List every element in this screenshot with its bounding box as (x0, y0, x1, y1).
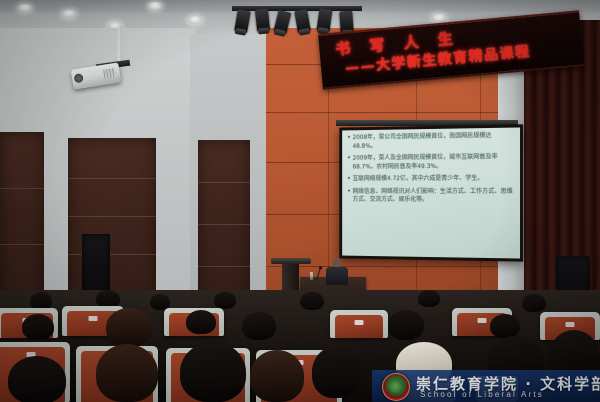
slide-bullet: • 互联网络规模4.72亿，其中六成是青少年、学生。 (348, 175, 515, 184)
seat-cushion (335, 315, 383, 338)
slide-bullet: • 网络信息、网络视讯对人们影响：生活方式、工作方式、思维方式、交流方式、娱乐化… (348, 187, 515, 204)
audience-head (418, 290, 440, 307)
auditorium-seat[interactable] (330, 310, 388, 338)
seat-number-plate (89, 316, 98, 321)
slide-bullet-text: 2009年，菜人及全国网民规模首位，城市互联网普及率68.7%，农村网民普及率4… (353, 153, 515, 171)
downlight-icon (18, 4, 32, 12)
presenter-body (326, 267, 348, 285)
downlight-icon (148, 2, 162, 10)
audience-head (242, 312, 276, 340)
watermark-english-text: School of Liberal Arts (420, 390, 544, 399)
school-emblem-icon (382, 373, 410, 401)
audience-head (186, 310, 216, 334)
audience-head-foreground (180, 342, 246, 402)
stage-light-icon (234, 9, 251, 33)
audience-head-foreground (8, 356, 66, 402)
wood-panel-right (198, 140, 250, 312)
presenter (326, 258, 348, 284)
audience-head-foreground (312, 346, 360, 398)
seat-number-plate (355, 320, 364, 325)
lighting-truss (232, 0, 362, 34)
audience-head (214, 292, 236, 309)
audience-head (522, 294, 546, 312)
audience-head (490, 314, 520, 338)
seat-number-plate (478, 318, 487, 323)
photo-canvas: 书 写 人 生 ——大学新生教育精品课程 • 2008年，菜公司全国网民规模首位… (0, 0, 600, 402)
audience-head (106, 308, 152, 346)
audience-head-foreground (96, 344, 158, 402)
water-bottle (310, 272, 313, 280)
slide-bullet-text: 2008年，菜公司全国网民规模首位，我国网民规模达48.8%。 (353, 132, 515, 151)
stage-light-icon (274, 10, 292, 34)
projection-screen: • 2008年，菜公司全国网民规模首位，我国网民规模达48.8%。 • 2009… (342, 127, 520, 258)
downlight-icon (432, 14, 446, 22)
projector-vent (103, 68, 116, 79)
slide-bullet-text: 网络信息、网络视讯对人们影响：生活方式、工作方式、思维方式、交流方式、娱乐化等。 (353, 187, 515, 204)
audience-head (388, 310, 424, 340)
stage-light-icon (294, 9, 311, 33)
audience-head (22, 314, 54, 340)
audience-head-foreground (250, 350, 304, 402)
audience-head (300, 292, 324, 310)
projector-lens-icon (73, 73, 83, 83)
seat-number-plate (566, 322, 575, 327)
watermark-banner: 崇仁教育学院 · 文科学部 School of Liberal Arts (372, 370, 600, 402)
downlight-icon (62, 10, 76, 18)
slide-bullet-text: 互联网络规模4.72亿，其中六成是青少年、学生。 (353, 175, 515, 184)
stage-light-icon (255, 8, 270, 31)
stage-light-icon (317, 8, 333, 32)
projection-screen-frame: • 2008年，菜公司全国网民规模首位，我国网民规模达48.8%。 • 2009… (339, 124, 523, 261)
downlight-icon (188, 16, 202, 24)
slide-bullet: • 2008年，菜公司全国网民规模首位，我国网民规模达48.8%。 (348, 132, 515, 151)
slide-bullet: • 2009年，菜人及全国网民规模首位，城市互联网普及率68.7%，农村网民普及… (348, 153, 515, 171)
